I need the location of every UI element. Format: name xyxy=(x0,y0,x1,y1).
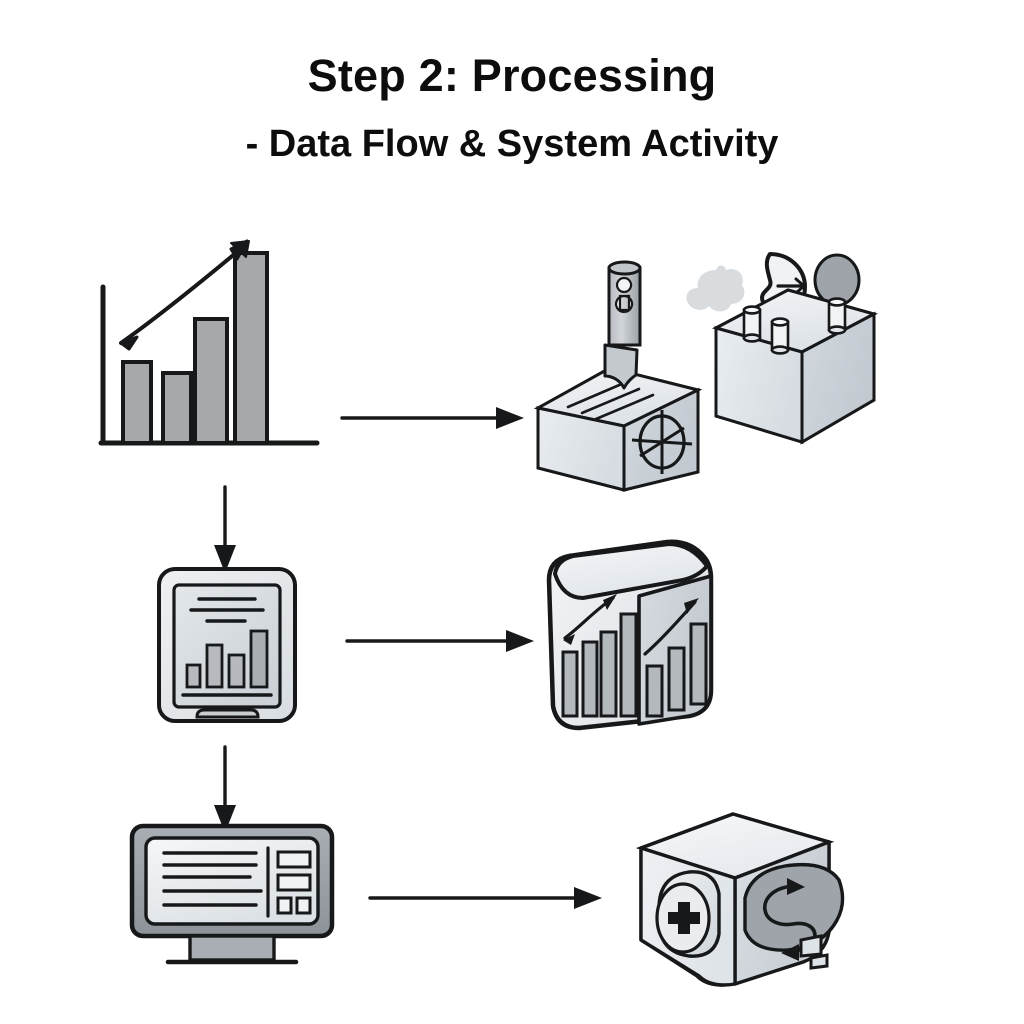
smoke-puff-icon xyxy=(686,266,744,312)
service-machine xyxy=(615,812,855,997)
connector-arrow-row1 xyxy=(340,400,530,436)
title-block: Step 2: Processing - Data Flow & System … xyxy=(0,52,1024,165)
dashboard-monitor xyxy=(128,820,338,975)
connector-arrow-row3 xyxy=(368,880,608,916)
monitor-stand xyxy=(190,936,274,960)
service-notch-upper xyxy=(801,936,821,956)
page-title: Step 2: Processing xyxy=(0,52,1024,99)
growth-bar-chart xyxy=(85,215,335,465)
plus-button-disc[interactable] xyxy=(657,872,719,956)
trend-arrow-icon xyxy=(121,241,249,349)
press-cylinder-tool xyxy=(609,262,640,345)
connector-arrow-row2 xyxy=(345,623,540,659)
control-machine xyxy=(686,254,874,442)
chart-bars xyxy=(123,253,267,443)
tablet-report xyxy=(155,565,300,725)
tablet-home-tray xyxy=(197,710,258,717)
service-notch-lower xyxy=(811,955,827,968)
machinery-group xyxy=(512,240,892,490)
analytics-cube xyxy=(535,540,735,735)
page-subtitle: - Data Flow & System Activity xyxy=(0,125,1024,165)
diagram-page: Step 2: Processing - Data Flow & System … xyxy=(0,0,1024,1024)
press-machine xyxy=(538,262,698,490)
connector-arrow-down-1 xyxy=(205,485,245,575)
